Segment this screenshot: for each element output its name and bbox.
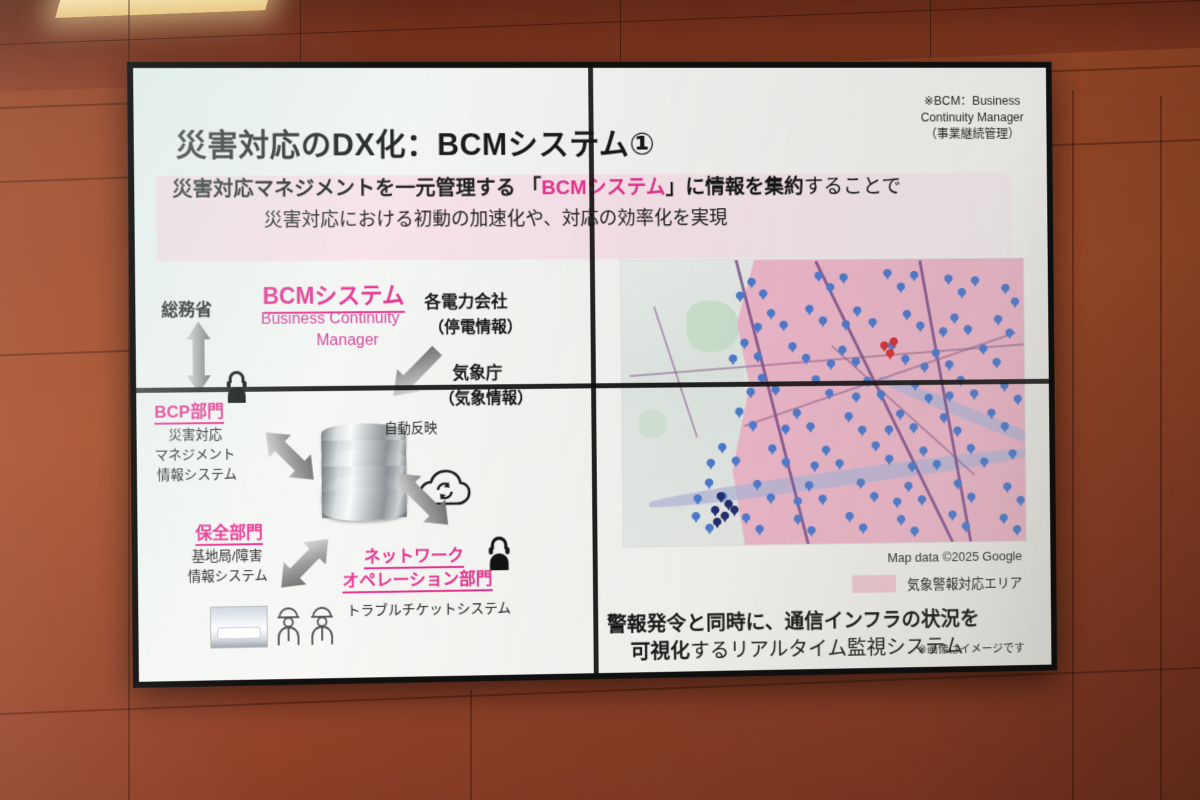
bcm-note-line3: （事業継続管理） [921, 126, 1024, 143]
map-legend: 気象警報対応エリア [852, 572, 1023, 594]
conference-room: 災害対応のDX化：BCMシステム① ※BCM：Business Continui… [0, 0, 1200, 800]
diagram-node-bcp-sub2: マネジメント [155, 443, 236, 464]
realtime-monitoring-map[interactable] [621, 258, 1026, 546]
banner-text-b: 」に情報を集約 [665, 176, 803, 199]
double-diagonal-arrow-hozen-icon [265, 523, 345, 604]
double-diagonal-arrow-bcp-icon [250, 416, 330, 497]
wall-seam [1160, 96, 1162, 800]
diagram-node-netops-label-2: オペレーション部門 [342, 564, 492, 593]
footer-line-2-bold: 可視化 [630, 640, 690, 664]
wall-seam [470, 690, 472, 800]
banner-text-c: することで [804, 175, 902, 198]
wall-seam [1072, 90, 1074, 800]
bcm-system-diagram: BCMシステム Business Continuity Manager 総務省 [145, 275, 592, 678]
field-workers-icon [273, 603, 337, 648]
base-station-cluster-markers [711, 492, 739, 529]
diagram-node-hozen-sub1: 基地局/障害 [191, 544, 262, 565]
diagram-node-jma-label: 気象庁 [452, 359, 502, 384]
banner-text-a: 災害対応マネジメントを一元管理する 「 [172, 176, 541, 200]
double-vertical-arrow-icon [185, 321, 212, 393]
diagram-node-soumu-label: 総務省 [161, 295, 212, 320]
video-wall-display[interactable]: 災害対応のDX化：BCMシステム① ※BCM：Business Continui… [127, 62, 1057, 688]
image-disclaimer-note: ※画像はイメージです [918, 640, 1025, 658]
diagram-node-hozen-label: 保全部門 [195, 518, 263, 546]
maintenance-vehicle-photo [210, 606, 268, 649]
operator-headset-icon-netops [483, 534, 515, 570]
diagram-node-bcp-sub1: 災害対応 [168, 423, 222, 444]
banner-line-1: 災害対応マネジメントを一元管理する 「BCMシステム」に情報を集約することで [172, 169, 901, 201]
diagram-center-title: BCMシステム [262, 276, 404, 314]
diagram-center-subtitle-2: Manager [316, 332, 378, 350]
banner-line-2: 災害対応における初動の加速化や、対応の効率化を実現 [264, 203, 728, 232]
diagram-node-bcp-sub3: 情報システム [157, 463, 237, 484]
diagram-node-bcp-label: BCP部門 [154, 397, 224, 425]
inbound-arrow-power-icon [376, 333, 455, 413]
double-diagonal-arrow-netops-icon [383, 456, 462, 542]
banner-text-bcm: BCMシステム [541, 176, 666, 199]
bcm-note-line2: Continuity Manager [921, 109, 1024, 126]
legend-color-swatch [852, 575, 896, 593]
page-title: 災害対応のDX化：BCMシステム① [175, 119, 655, 165]
bcm-definition-note: ※BCM：Business Continuity Manager （事業継続管理… [921, 93, 1024, 143]
legend-label: 気象警報対応エリア [907, 572, 1022, 593]
diagram-node-hozen-sub2: 情報システム [188, 564, 268, 585]
base-station-alert-markers [880, 337, 898, 360]
diagram-node-power-label: 各電力会社 [424, 287, 507, 312]
base-station-marker-layer [621, 258, 1026, 546]
auto-reflect-label: 自動反映 [384, 417, 437, 437]
ceiling-light [55, 0, 275, 18]
bcm-note-line1: ※BCM：Business [921, 93, 1024, 110]
diagram-center-subtitle-1: Business Continuity [261, 310, 400, 329]
diagram-node-netops-sub: トラブルチケットシステム [347, 598, 512, 621]
map-credit: Map data ©2025 Google [887, 548, 1022, 565]
wall-seam [0, 350, 135, 357]
footer-line-2: 可視化するリアルタイム監視システム [630, 629, 963, 664]
screen-surface: 災害対応のDX化：BCMシステム① ※BCM：Business Continui… [133, 68, 1051, 682]
